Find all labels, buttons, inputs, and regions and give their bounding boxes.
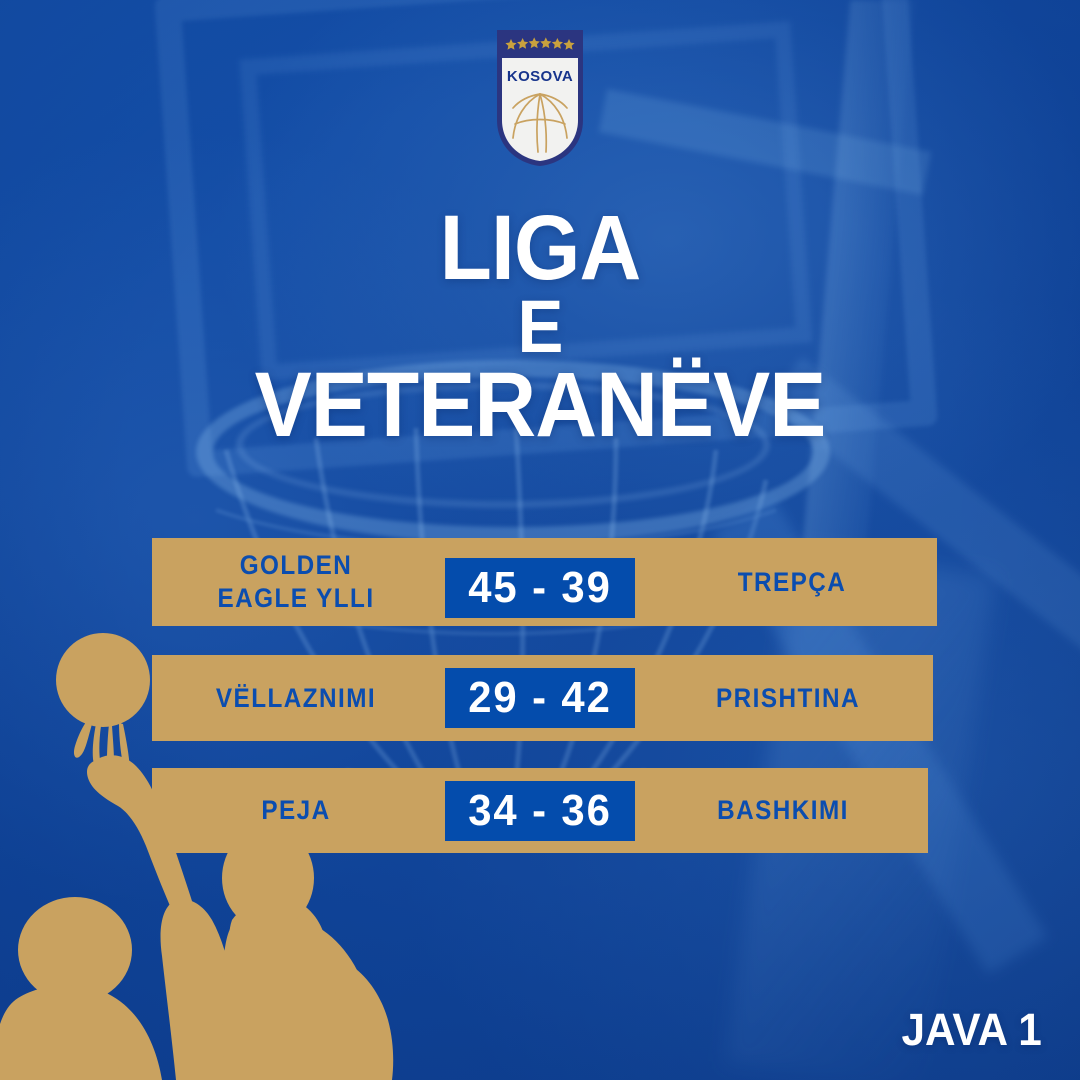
round-label: JAVA 1: [901, 1004, 1041, 1056]
match-3-score: 34 - 36: [445, 781, 635, 841]
match-1-home-team: GOLDEN EAGLE YLLI: [166, 549, 425, 615]
poster-canvas: KOSOVA LIGA E VETERANËVE: [0, 0, 1080, 1080]
match-2-away-team: PRISHTINA: [658, 682, 919, 715]
match-1-home-line-1: GOLDEN: [240, 550, 353, 580]
match-1-away-team: TREPÇA: [662, 566, 923, 599]
match-results-list: GOLDEN EAGLE YLLI TREPÇA 45 - 39 VËLLAZN…: [0, 0, 1080, 1080]
match-2-score: 29 - 42: [445, 668, 635, 728]
match-3-home-team: PEJA: [166, 794, 425, 827]
match-1-score: 45 - 39: [445, 558, 635, 618]
match-3-away-team: BASHKIMI: [653, 794, 914, 827]
match-1-home-line-2: EAGLE YLLI: [217, 583, 374, 613]
match-2-home-team: VËLLAZNIMI: [166, 682, 425, 715]
